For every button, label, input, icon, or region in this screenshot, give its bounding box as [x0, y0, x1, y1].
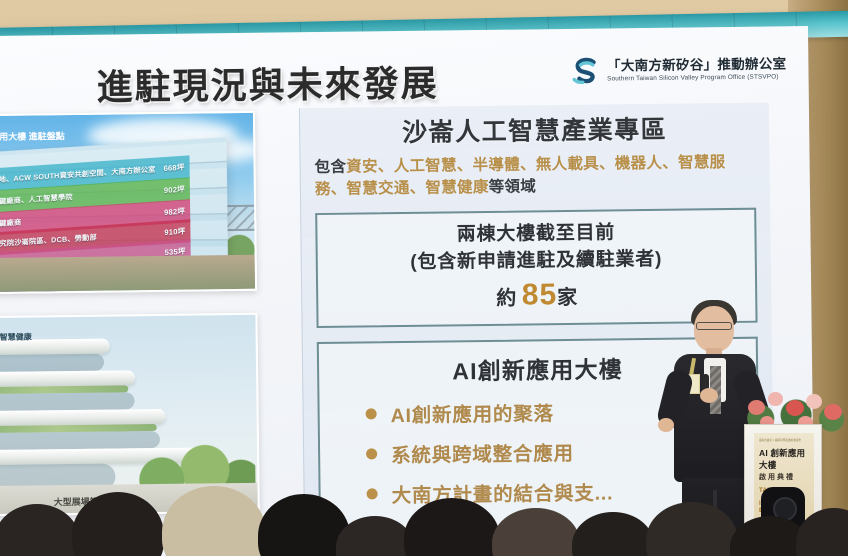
logo-text-block: 「大南方新矽谷」推動辦公室 Southern Taiwan Silicon Va… — [607, 58, 787, 84]
photo-bottom-overlay-text: 智慧交通、智慧健康 — [0, 332, 32, 345]
audience-head — [0, 504, 80, 556]
list-item-label: AI創新應用的聚落 — [390, 397, 554, 428]
floor-band-area: 982坪 — [164, 206, 185, 218]
panel-description: 包含資安、人工智慧、半導體、無人載具、機器人、智慧服務、智慧交通、智慧健康等領域 — [301, 152, 771, 203]
floor-band-label: 智慧科技關鍵廠商、人工智慧學院 — [0, 192, 73, 209]
audience-silhouettes — [0, 464, 848, 556]
flower — [748, 400, 765, 415]
floor-band-area: 668坪 — [163, 162, 184, 174]
desc-suffix: 等領域 — [489, 179, 537, 197]
presenter-right-hand — [700, 388, 718, 403]
program-office-logo: 「大南方新矽谷」推動辦公室 Southern Taiwan Silicon Va… — [566, 52, 787, 89]
stsvpo-s-logo-icon — [566, 55, 600, 89]
floor-band-area: 902坪 — [164, 184, 185, 196]
flower — [806, 394, 822, 409]
audience-head — [162, 486, 266, 556]
panel-heading: 沙崙人工智慧產業專區 — [300, 109, 769, 151]
audience-head — [796, 508, 848, 556]
floor-band-area: 910坪 — [164, 226, 185, 238]
audience-head — [404, 498, 500, 556]
foreground-road — [0, 255, 255, 293]
photo-ai-building-floor-allocation: 技術服務基地、ACW SOUTH資安共創空間、大南方辦公室 668坪 智慧科技關… — [0, 111, 257, 295]
page-title: 進駐現況與未來發展 — [96, 55, 439, 111]
desc-prefix: 包含 — [315, 159, 347, 176]
tenant-box-line-2: (包含新申請進駐及續駐業者) — [326, 246, 747, 278]
audience-head — [572, 512, 654, 556]
presenter-left-hand — [658, 418, 674, 432]
screenshot-stage: 進駐現況與未來發展 「大南方新矽谷」推動辦公室 Southern Taiwan … — [0, 0, 848, 556]
logo-title-en: Southern Taiwan Silicon Valley Program O… — [607, 74, 786, 83]
flower — [786, 400, 804, 416]
bullet-dot-icon — [366, 448, 377, 459]
count-number: 85 — [522, 278, 558, 311]
poster-micro-line: 臺南市政府 × 國家科學及技術委員會 — [759, 439, 809, 443]
glasses-icon — [696, 322, 732, 330]
photo-top-caption: AI創新應用大樓 進駐盤點 — [0, 129, 65, 143]
logo-title-cn: 「大南方新矽谷」推動辦公室 — [607, 58, 787, 75]
audience-head — [492, 508, 580, 556]
count-suffix: 家 — [557, 287, 577, 309]
audience-head — [72, 492, 164, 556]
audience-head — [646, 502, 738, 556]
floor-band-label: 智慧科技關鍵廠商 — [0, 217, 21, 231]
photo-column: 技術服務基地、ACW SOUTH資安共創空間、大南方辦公室 668坪 智慧科技關… — [0, 111, 260, 517]
bullet-dot-icon — [366, 408, 377, 419]
flower — [768, 392, 783, 406]
count-prefix: 約 — [496, 287, 516, 309]
flower — [824, 404, 842, 420]
